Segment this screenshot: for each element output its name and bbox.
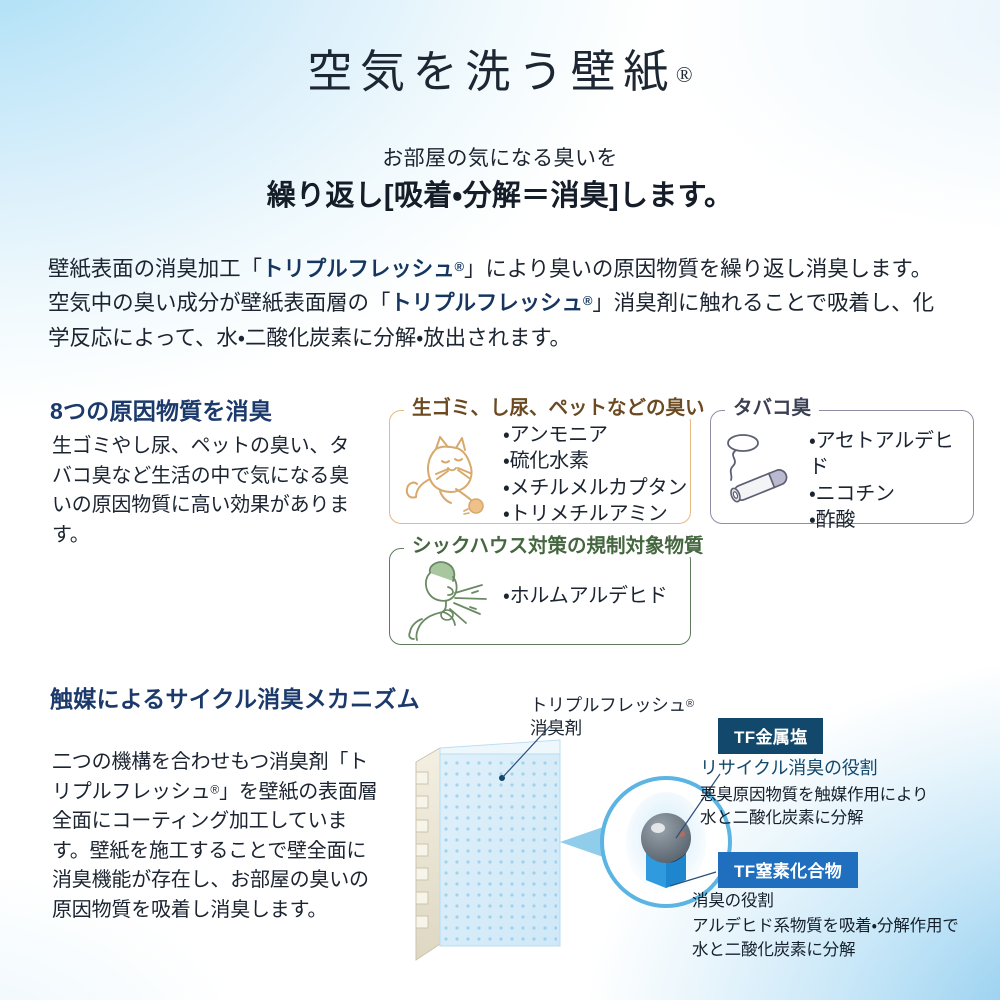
list-item: ・メチルメルカプタン: [503, 475, 687, 501]
registered-trademark-icon: ®: [454, 259, 463, 274]
list-item: ・酢酸: [809, 507, 973, 533]
odor-box-tobacco: タバコ臭 ・アセトアルデヒド ・ニコチン ・酢酸: [710, 410, 974, 524]
section-heading-odor: 8つの原因物質を消臭: [50, 392, 272, 426]
callout-detail-line-1: アルデヒド系物質を吸着・分解作用で: [692, 917, 959, 935]
callout-detail-line-2: 水と二酸化炭素に分解: [692, 941, 855, 959]
callout-detail-line-2: 水と二酸化炭素に分解: [700, 809, 863, 827]
section-body-odor: 生ゴミやし尿、ペットの臭い、タバコ臭など生活の中で気になる臭いの原因物質に高い効…: [52, 432, 352, 550]
section-body-mechanism: 二つの機構を合わせもつ消臭剤「トリプルフレッシュ®」を壁紙の表面層全面にコーティ…: [52, 748, 382, 926]
odor-box-tobacco-items: ・アセトアルデヒド ・ニコチン ・酢酸: [809, 428, 973, 534]
lead-text-1: 壁紙表面の消臭加工「: [48, 257, 262, 281]
list-item: ・アセトアルデヒド: [809, 428, 973, 481]
badge-tf-nitrogen-compound: TF窒素化合物: [718, 852, 858, 888]
odor-box-sickhouse-legend: シックハウス対策の規制対象物質: [404, 536, 712, 557]
list-item: ・硫化水素: [503, 448, 687, 474]
callout-tf-nitrogen-compound: 消臭の役割 アルデヒド系物質を吸着・分解作用で 水と二酸化炭素に分解: [692, 890, 959, 962]
registered-trademark-icon: ®: [210, 782, 219, 796]
diagram-caption: トリプルフレッシュ®消臭剤: [530, 694, 694, 741]
list-item: ・ホルムアルデヒド: [503, 583, 667, 609]
callout-role: 消臭の役割: [692, 890, 959, 913]
list-item: ・ニコチン: [809, 481, 973, 507]
odor-box-waste-items: ・アンモニア ・硫化水素 ・メチルメルカプタン ・トリメチルアミン: [503, 422, 687, 528]
registered-trademark-icon: ®: [583, 293, 592, 308]
lead-brand-1: トリプルフレッシュ: [262, 257, 455, 281]
list-item: ・トリメチルアミン: [503, 501, 687, 527]
odor-box-waste: 生ゴミ、し尿、ペットなどの臭い ・アンモニア ・硫化水素: [389, 410, 691, 524]
page-title: 空気を洗う壁紙®: [0, 48, 1000, 98]
callout-detail-line-1: 悪臭原因物質を触媒作用により: [700, 786, 928, 804]
badge-tf-metal-salt: TF金属塩: [718, 718, 823, 754]
diagram-caption-text-2: 消臭剤: [530, 718, 582, 738]
wallpaper-cross-section-illustration: [410, 738, 740, 988]
lead-paragraph: 壁紙表面の消臭加工「トリプルフレッシュ®」により臭いの原因物質を繰り返し消臭しま…: [48, 252, 953, 356]
list-item: ・アンモニア: [503, 422, 687, 448]
cigarette-icon: [717, 427, 809, 509]
subtitle-line-2: 繰り返し[吸着・分解＝消臭]します。: [0, 172, 1000, 214]
callout-tf-metal-salt: リサイクル消臭の役割 悪臭原因物質を触媒作用により 水と二酸化炭素に分解: [700, 756, 928, 830]
registered-trademark-icon: ®: [686, 698, 694, 710]
coughing-person-icon: [400, 557, 496, 641]
diagram-caption-text-1: トリプルフレッシュ: [530, 695, 686, 715]
page-title-text: 空気を洗う壁紙: [307, 47, 676, 97]
odor-box-sickhouse: シックハウス対策の規制対象物質 ・ホルムアルデヒド: [389, 548, 691, 645]
registered-trademark-icon: ®: [676, 62, 693, 87]
section-heading-mechanism: 触媒によるサイクル消臭メカニズム: [50, 680, 420, 714]
callout-role: リサイクル消臭の役割: [700, 756, 928, 782]
odor-box-waste-legend: 生ゴミ、し尿、ペットなどの臭い: [404, 398, 713, 419]
lead-brand-2: トリプルフレッシュ: [390, 291, 583, 315]
odor-box-tobacco-legend: タバコ臭: [725, 398, 819, 419]
subtitle-line-1: お部屋の気になる臭いを: [0, 142, 1000, 172]
odor-box-sickhouse-items: ・ホルムアルデヒド: [503, 583, 667, 609]
infographic-page: 空気を洗う壁紙® お部屋の気になる臭いを 繰り返し[吸着・分解＝消臭]します。 …: [0, 0, 1000, 1000]
cat-icon: [396, 427, 500, 515]
mechanism-diagram: トリプルフレッシュ®消臭剤 TF金属塩 リサイクル消臭の役割 悪臭原因物質を触媒…: [400, 690, 1000, 980]
